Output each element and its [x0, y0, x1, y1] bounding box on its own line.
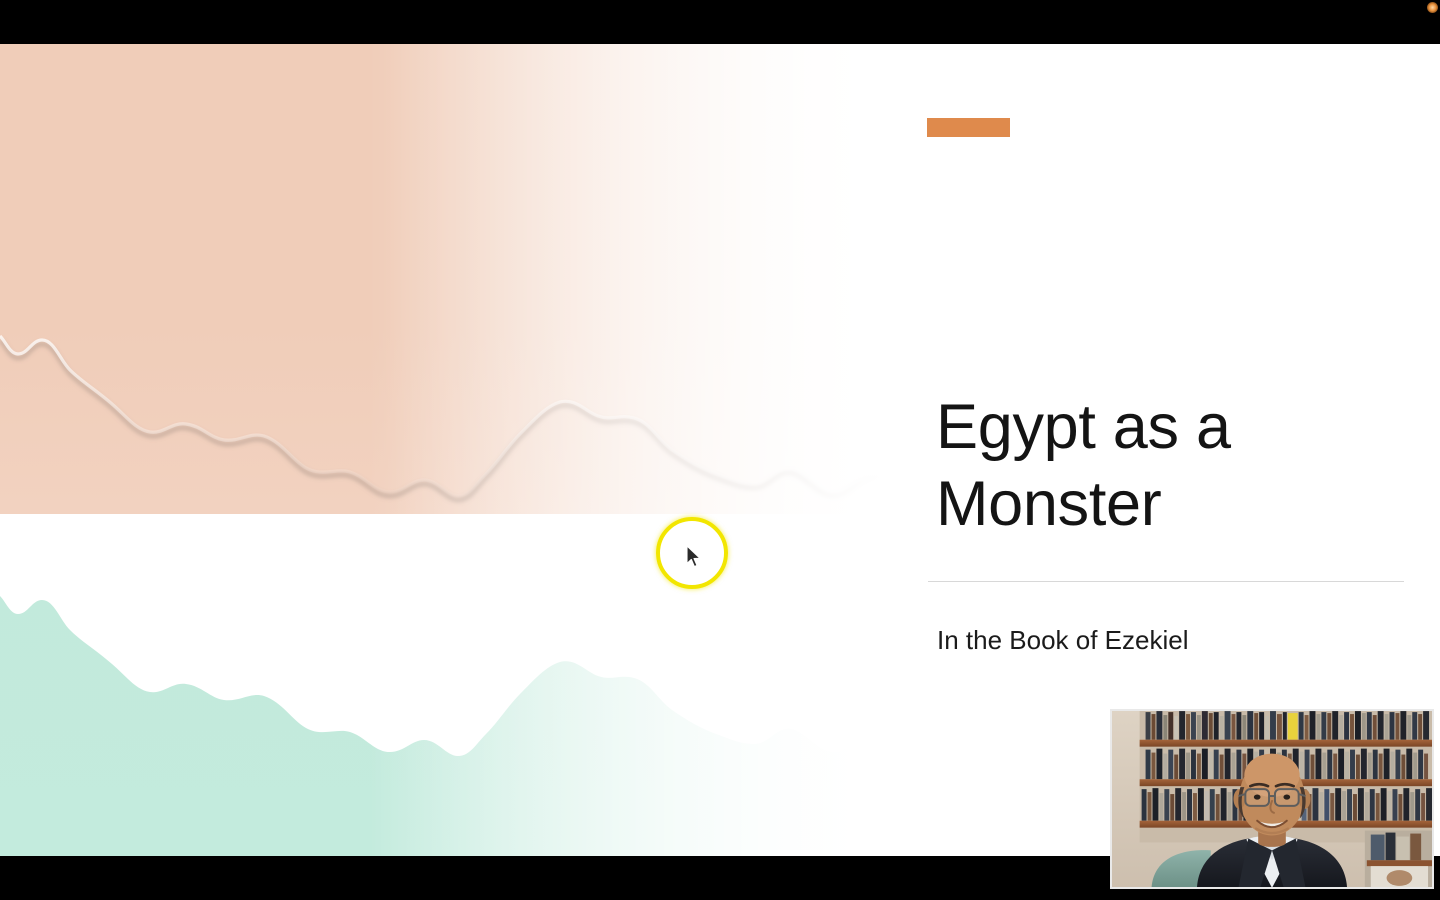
recording-indicator-dot: [1427, 2, 1438, 13]
accent-bar: [927, 118, 1010, 137]
mouse-cursor-icon: [686, 545, 702, 569]
presenter-webcam-overlay[interactable]: [1110, 709, 1434, 889]
slide-title: Egypt as a Monster: [936, 389, 1416, 544]
slide-subtitle: In the Book of Ezekiel: [937, 624, 1407, 658]
presenter-video-frame: [1112, 711, 1432, 887]
letterbox-top: [0, 0, 1440, 44]
background-wave-shape: [0, 44, 920, 856]
title-divider: [928, 581, 1404, 582]
screen: Egypt as a Monster In the Book of Ezekie…: [0, 0, 1440, 900]
